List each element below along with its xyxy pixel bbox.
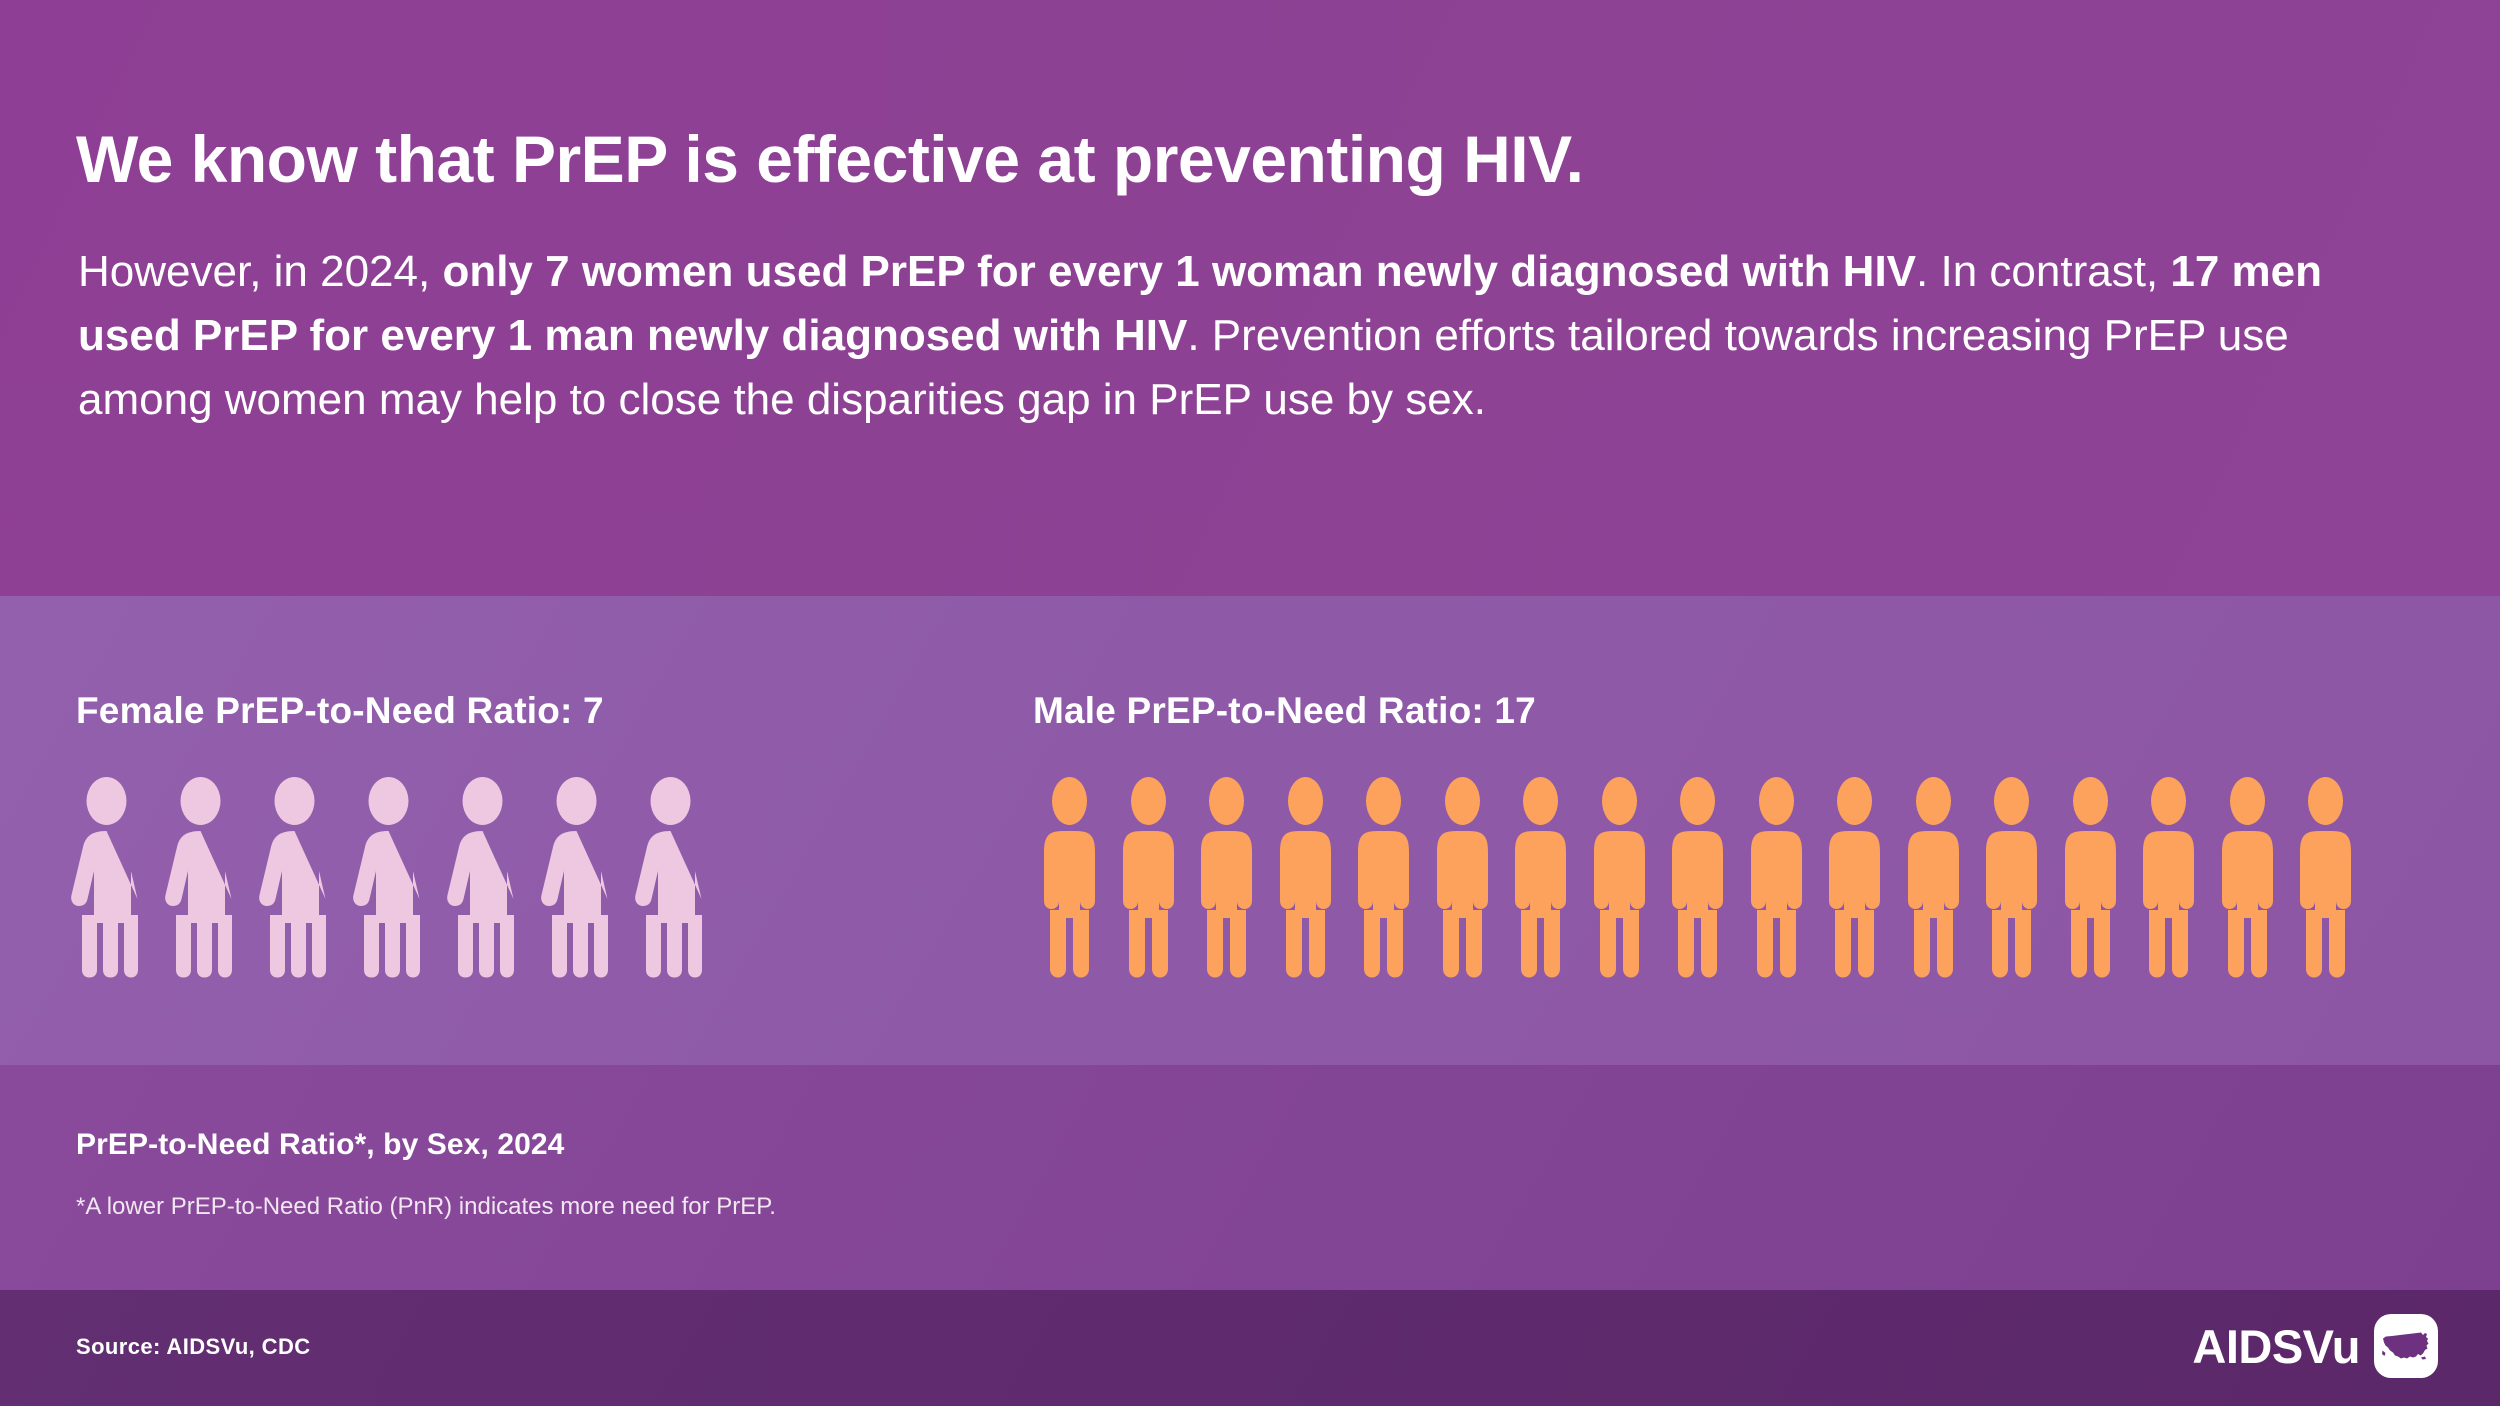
- female-figure-icon: [540, 775, 613, 978]
- us-map-icon: [2374, 1314, 2438, 1378]
- male-group-label: Male PrEP-to-Need Ratio: 17: [1033, 690, 1536, 732]
- male-figure-icon: [1982, 775, 2041, 978]
- aidsvu-logo-wordmark: AIDSVu: [2192, 1323, 2360, 1370]
- male-figure-row: [1040, 775, 2355, 978]
- aidsvu-logo[interactable]: AIDSVu: [2192, 1314, 2438, 1378]
- infographic-canvas: We know that PrEP is effective at preven…: [0, 0, 2500, 1406]
- subcopy-part-2: . In contrast,: [1916, 247, 2170, 296]
- male-figure-icon: [1825, 775, 1884, 978]
- male-figure-icon: [1590, 775, 1649, 978]
- female-figure-icon: [258, 775, 331, 978]
- male-figure-icon: [1668, 775, 1727, 978]
- female-figure-icon: [352, 775, 425, 978]
- male-figure-icon: [2218, 775, 2277, 978]
- chart-caption-title: PrEP-to-Need Ratio*, by Sex, 2024: [76, 1128, 564, 1162]
- subcopy-part-1: However, in 2024,: [78, 247, 442, 296]
- subcopy-bold-1: only 7 women used PrEP for every 1 woman…: [442, 247, 1916, 296]
- male-figure-icon: [1119, 775, 1178, 978]
- male-figure-icon: [1511, 775, 1570, 978]
- subheading-paragraph: However, in 2024, only 7 women used PrEP…: [78, 240, 2388, 433]
- male-figure-icon: [2139, 775, 2198, 978]
- male-figure-icon: [1197, 775, 1256, 978]
- male-figure-icon: [1354, 775, 1413, 978]
- male-figure-icon: [2296, 775, 2355, 978]
- male-figure-icon: [1904, 775, 1963, 978]
- male-figure-icon: [1747, 775, 1806, 978]
- caption-band: [0, 1065, 2500, 1290]
- chart-caption-note: *A lower PrEP-to-Need Ratio (PnR) indica…: [76, 1193, 776, 1221]
- female-figure-icon: [634, 775, 707, 978]
- page-title: We know that PrEP is effective at preven…: [76, 124, 2416, 195]
- female-figure-icon: [164, 775, 237, 978]
- male-figure-icon: [2061, 775, 2120, 978]
- source-text: Source: AIDSVu, CDC: [76, 1334, 311, 1360]
- male-figure-icon: [1433, 775, 1492, 978]
- footer-band: [0, 1290, 2500, 1406]
- female-figure-icon: [446, 775, 519, 978]
- male-figure-icon: [1040, 775, 1099, 978]
- female-group-label: Female PrEP-to-Need Ratio: 7: [76, 690, 604, 732]
- female-figure-icon: [70, 775, 143, 978]
- female-figure-row: [70, 775, 707, 978]
- male-figure-icon: [1276, 775, 1335, 978]
